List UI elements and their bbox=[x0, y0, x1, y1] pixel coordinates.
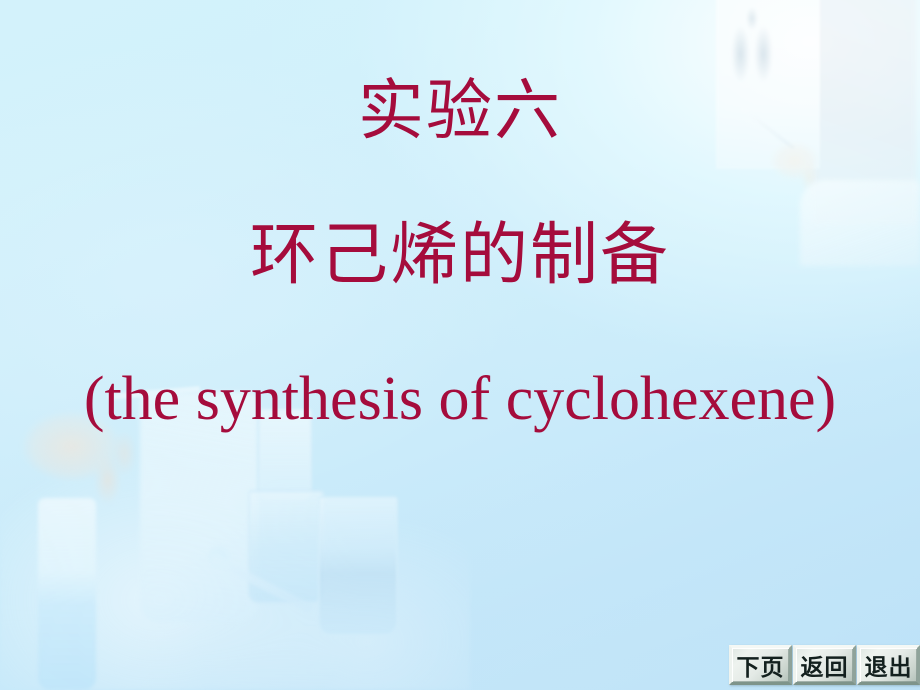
watermark-photo-top-right bbox=[680, 0, 920, 259]
photo-hand-holding-tube bbox=[4, 406, 144, 524]
next-page-button-label: 下页 bbox=[737, 648, 785, 682]
photo-back-beaker bbox=[248, 490, 324, 604]
back-button[interactable]: 返回 bbox=[793, 645, 856, 685]
photo-front-beaker bbox=[318, 496, 398, 636]
photo-pointer-stick bbox=[741, 106, 795, 150]
photo-hand bbox=[766, 136, 828, 202]
photo-flask bbox=[140, 392, 258, 622]
slide-title-chinese-subject: 环己烯的制备 bbox=[0, 222, 920, 290]
presentation-slide: 实验六 环己烯的制备 (the synthesis of cyclohexene… bbox=[0, 0, 920, 690]
slide-title-english-subtitle: (the synthesis of cyclohexene) bbox=[0, 368, 920, 430]
background-haze-overlay bbox=[0, 0, 920, 690]
photo-grey-panel bbox=[812, 0, 916, 224]
back-button-label: 返回 bbox=[801, 648, 849, 682]
watermark-photo-bottom-left bbox=[0, 390, 470, 690]
photo-pipette-bulb bbox=[208, 546, 230, 568]
photo-pipette bbox=[210, 554, 314, 613]
photo-small-beaker bbox=[258, 408, 312, 500]
slide-title-chinese-experiment-number: 实验六 bbox=[0, 78, 920, 144]
exit-button[interactable]: 退出 bbox=[857, 645, 920, 685]
next-page-button[interactable]: 下页 bbox=[729, 645, 792, 685]
navigation-button-bar: 下页 返回 退出 bbox=[729, 645, 920, 685]
photo-test-tube bbox=[38, 498, 96, 690]
photo-glass-rod bbox=[108, 386, 200, 400]
photo-lab-coat-sleeve bbox=[800, 180, 920, 266]
photo-backdrop bbox=[0, 390, 470, 690]
title-block: 实验六 环己烯的制备 (the synthesis of cyclohexene… bbox=[0, 0, 920, 690]
exit-button-label: 退出 bbox=[865, 648, 913, 682]
photo-white-panel bbox=[716, 0, 820, 169]
photo-xray-film bbox=[726, 4, 778, 108]
